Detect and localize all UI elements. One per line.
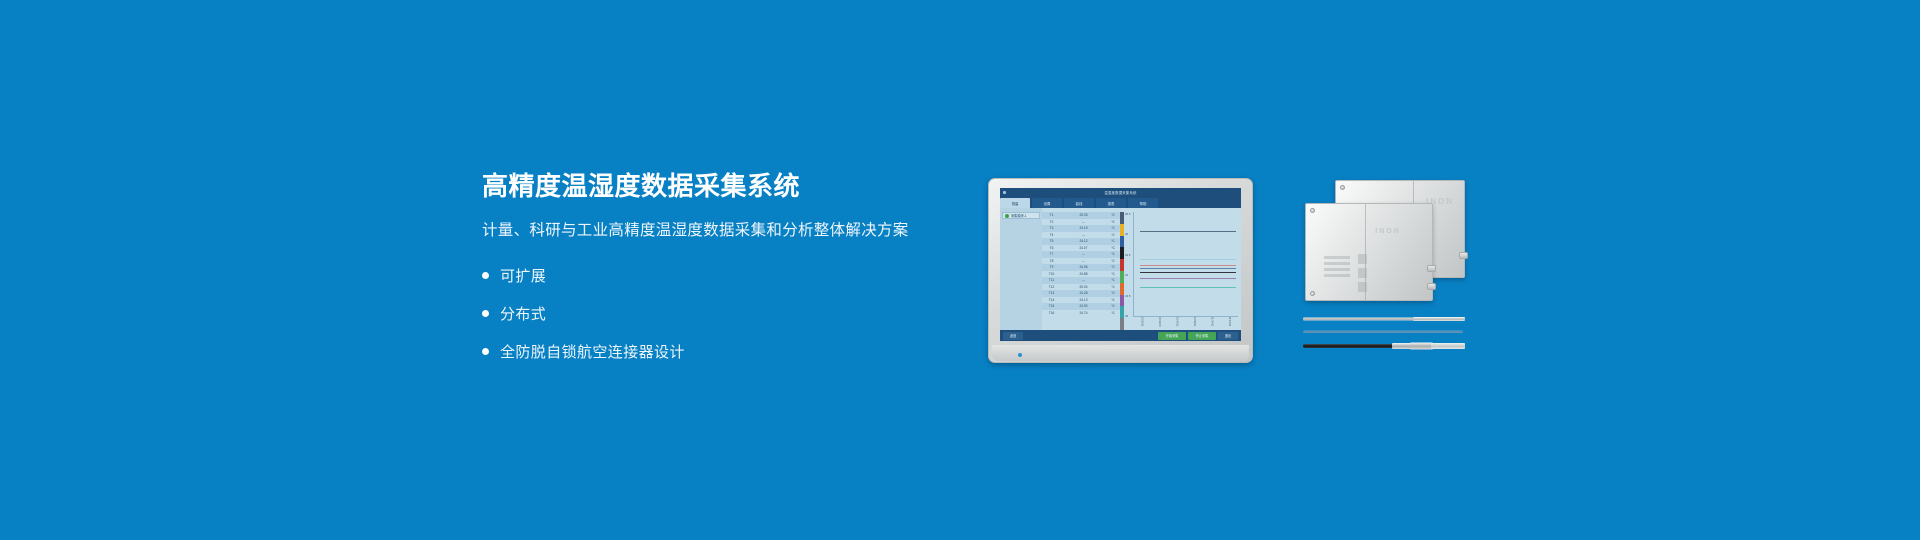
tab-settings[interactable]: 设置 [1032,198,1062,208]
probe-cable [1303,344,1395,348]
terminal-icon [1358,268,1367,278]
sidebar-item-device[interactable]: 采集模块-1 [1002,212,1040,219]
cell-unit: ℃ [1107,213,1119,217]
cell-value: --- [1060,220,1107,224]
monitor-base [992,345,1249,361]
cell-value: 24.19 [1060,226,1107,230]
acquisition-module-enclosure-front: INON [1305,203,1433,301]
cell-unit: ℃ [1107,311,1119,315]
cell-id: T2 [1043,220,1060,224]
aviation-connector-ring [1392,343,1411,349]
temperature-probe-steel [1303,316,1465,321]
y-tick-label: 24.5 [1125,253,1133,257]
cell-value: 24.12 [1060,239,1107,243]
label-etching [1324,256,1350,259]
cell-unit: ℃ [1107,246,1119,250]
trend-line [1140,259,1236,260]
cell-id: T14 [1043,298,1060,302]
terminal-icon [1358,282,1367,292]
x-tick-label: 11:04:01 [1210,317,1213,329]
cell-id: T7 [1043,252,1060,256]
cell-value: 24.28 [1060,291,1107,295]
x-tick-label: 11:15:00 [1228,317,1231,329]
app-bottom-bar: 返回 开始采集 停止采集 退出 [1000,330,1241,341]
trend-line [1140,268,1236,269]
channel-table: T125.33℃T2---℃T324.19℃T4---℃T524.12℃T624… [1042,208,1120,330]
cell-id: T11 [1043,278,1060,282]
cell-unit: ℃ [1107,298,1119,302]
stop-acquisition-button[interactable]: 停止采集 [1188,332,1216,340]
cell-id: T12 [1043,285,1060,289]
connector-port [1459,252,1468,259]
chart-y-axis: 25.52524.52423.523 [1125,212,1133,318]
power-led-icon [1018,353,1022,357]
acquisition-software-screen: 温湿度数据采集系统 测量 设置 曲线 报表 帮助 采集模块-1 [1000,188,1241,341]
y-tick-label: 24 [1125,273,1133,277]
cell-id: T8 [1043,259,1060,263]
cell-unit: ℃ [1107,239,1119,243]
cell-value: 25.33 [1060,213,1107,217]
cell-id: T5 [1043,239,1060,243]
connector-port [1427,283,1436,290]
back-button[interactable]: 返回 [1003,332,1023,340]
temperature-probe-aviation-connector [1303,342,1465,349]
device-label: 采集模块-1 [1011,213,1027,218]
terminal-icon [1358,254,1367,264]
connector-port [1427,265,1436,272]
screw-icon [1310,291,1315,296]
probe-rod [1303,317,1420,320]
tab-help[interactable]: 帮助 [1128,198,1158,208]
app-titlebar: 温湿度数据采集系统 [1000,188,1241,197]
cell-id: T16 [1043,311,1060,315]
trend-line [1140,231,1236,232]
cell-value: 24.90 [1060,304,1107,308]
aviation-connector-body [1410,342,1433,349]
app-title: 温湿度数据采集系统 [1000,190,1241,195]
table-row[interactable]: T1624.74℃ [1042,310,1120,317]
cell-id: T13 [1043,291,1060,295]
cell-value: --- [1060,252,1107,256]
cell-unit: ℃ [1107,272,1119,276]
label-etching [1324,262,1350,265]
cell-unit: ℃ [1107,278,1119,282]
cell-value: 24.07 [1060,246,1107,250]
x-tick-label: 10:53:04 [1193,317,1196,329]
brand-logo: INON [1375,228,1401,235]
trend-line [1140,278,1236,279]
cell-id: T3 [1043,226,1060,230]
start-acquisition-button[interactable]: 开始采集 [1158,332,1186,340]
label-etching [1324,274,1350,277]
panel-pc-monitor: 温湿度数据采集系统 测量 设置 曲线 报表 帮助 采集模块-1 [988,178,1253,363]
x-tick-label: 10:20:01 [1140,317,1143,329]
cell-unit: ℃ [1107,252,1119,256]
cell-unit: ℃ [1107,285,1119,289]
chart-x-axis: 10:20:0110:31:0010:42:0110:53:0411:04:01… [1133,317,1238,329]
status-online-icon [1005,214,1009,218]
cell-id: T6 [1043,246,1060,250]
cell-value: --- [1060,259,1107,263]
label-etching [1324,268,1350,271]
x-tick-label: 10:31:00 [1158,317,1161,329]
cell-unit: ℃ [1107,265,1119,269]
trend-chart: 25.52524.52423.523 10:20:0110:31:0010:42… [1124,208,1241,330]
aviation-connector-shell [1431,343,1465,349]
cell-id: T4 [1043,233,1060,237]
cell-id: T9 [1043,265,1060,269]
trend-line [1140,265,1236,266]
exit-button[interactable]: 退出 [1218,332,1238,340]
cell-id: T15 [1043,304,1060,308]
cell-unit: ℃ [1107,291,1119,295]
tab-report[interactable]: 报表 [1096,198,1126,208]
cell-unit: ℃ [1107,304,1119,308]
y-tick-label: 23 [1125,314,1133,318]
app-body: 采集模块-1 T125.33℃T2---℃T324.19℃T4---℃T524.… [1000,208,1241,330]
cell-value: 25.04 [1060,285,1107,289]
trend-line [1140,272,1236,273]
x-tick-label: 10:42:01 [1175,317,1178,329]
cell-unit: ℃ [1107,220,1119,224]
chart-plot-area [1133,212,1238,317]
bottom-button-group: 开始采集 停止采集 退出 [1158,332,1238,340]
tab-measure[interactable]: 测量 [1000,198,1030,208]
cell-value: --- [1060,233,1107,237]
cell-value: --- [1060,278,1107,282]
monitor-screen-frame: 温湿度数据采集系统 测量 设置 曲线 报表 帮助 采集模块-1 [1000,188,1241,341]
trend-line [1140,287,1236,288]
y-tick-label: 25.5 [1125,212,1133,216]
cell-unit: ℃ [1107,233,1119,237]
product-banner: 高精度温湿度数据采集系统 计量、科研与工业高精度温湿度数据采集和分析整体解决方案… [0,0,1920,540]
cell-value: 24.13 [1060,298,1107,302]
tab-curve[interactable]: 曲线 [1064,198,1094,208]
y-tick-label: 23.5 [1125,294,1133,298]
cell-unit: ℃ [1107,226,1119,230]
screw-icon [1340,185,1345,190]
app-tab-bar: 测量 设置 曲线 报表 帮助 [1000,197,1241,208]
device-tree-sidebar: 采集模块-1 [1000,208,1042,330]
temperature-probe-cable-blue [1303,330,1463,333]
cell-id: T1 [1043,213,1060,217]
product-photo-group: 温湿度数据采集系统 测量 设置 曲线 报表 帮助 采集模块-1 [0,0,1920,540]
cell-id: T10 [1043,272,1060,276]
probe-tip [1413,317,1465,321]
cell-unit: ℃ [1107,259,1119,263]
probe-cable [1303,330,1463,333]
screw-icon [1310,208,1315,213]
cell-value: 24.96 [1060,265,1107,269]
cell-value: 24.88 [1060,272,1107,276]
cell-value: 24.74 [1060,311,1107,315]
y-tick-label: 25 [1125,232,1133,236]
